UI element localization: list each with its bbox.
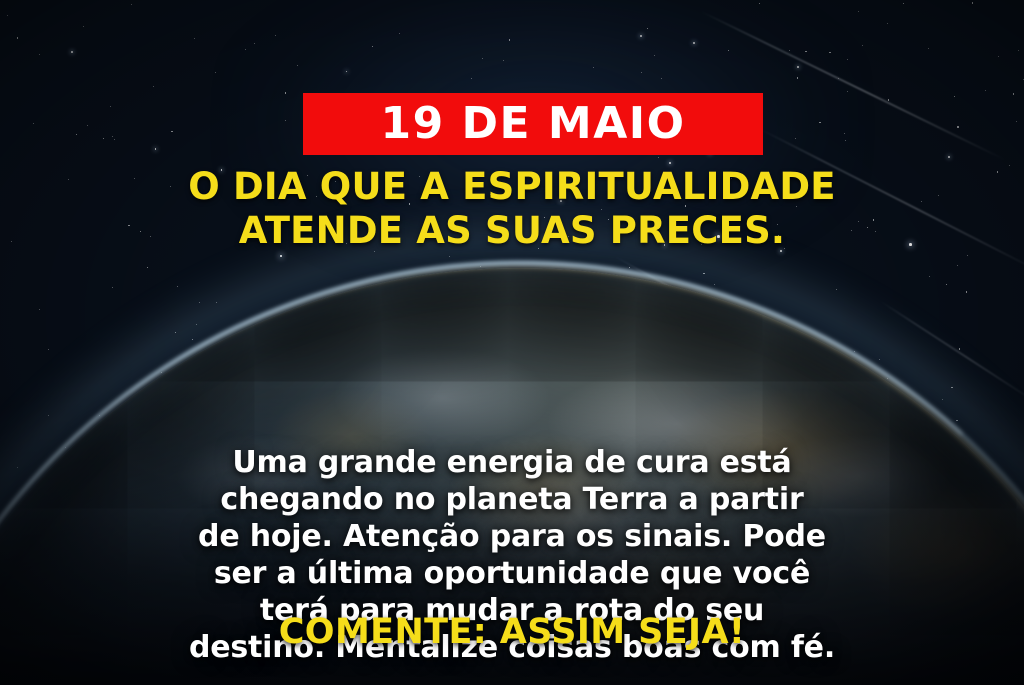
poster-content: 19 DE MAIO O DIA QUE A ESPIRITUALIDADE A… [0,0,1024,685]
date-banner-label: 19 DE MAIO [380,102,685,146]
call-to-action: COMENTE: ASSIM SEJA! [0,612,1024,652]
body-line-1: Uma grande energia de cura está [52,444,972,481]
date-banner: 19 DE MAIO [303,93,763,155]
headline-line-2: ATENDE AS SUAS PRECES. [0,209,1024,253]
poster-canvas: 19 DE MAIO O DIA QUE A ESPIRITUALIDADE A… [0,0,1024,685]
body-line-3: de hoje. Atenção para os sinais. Pode [52,518,972,555]
body-line-4: ser a última oportunidade que você [52,555,972,592]
headline: O DIA QUE A ESPIRITUALIDADE ATENDE AS SU… [0,165,1024,253]
headline-line-1: O DIA QUE A ESPIRITUALIDADE [0,165,1024,209]
body-line-2: chegando no planeta Terra a partir [52,481,972,518]
